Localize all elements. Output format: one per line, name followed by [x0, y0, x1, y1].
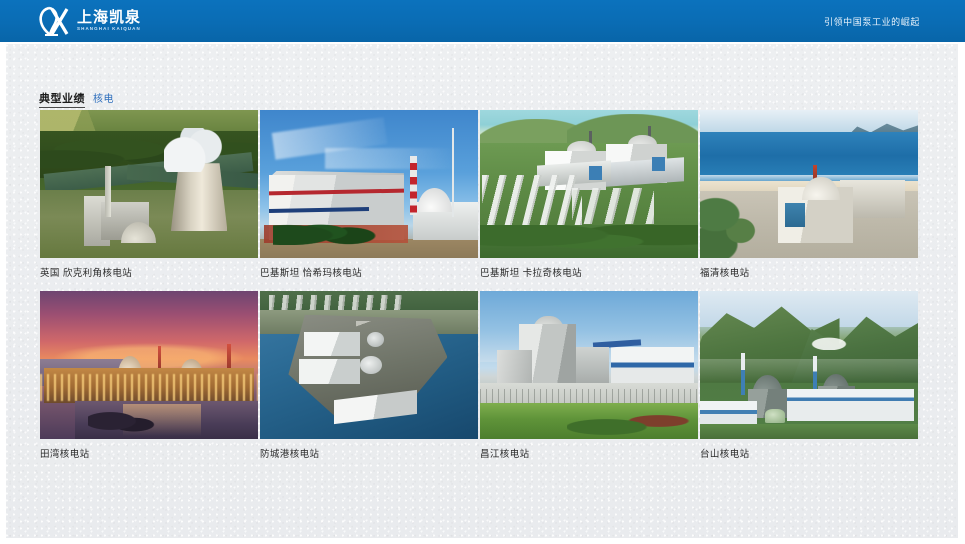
- hinkley-point-nuclear-plant-photo[interactable]: [40, 110, 258, 258]
- kaiquan-logo-mark-icon: [36, 5, 72, 37]
- brand-name-cn: 上海凯泉: [77, 10, 141, 25]
- gallery-item[interactable]: 台山核电站: [700, 291, 920, 460]
- chashma-nuclear-plant-photo[interactable]: [260, 110, 478, 258]
- gallery-item[interactable]: 昌江核电站: [480, 291, 700, 460]
- site-header: 上海凯泉 SHANGHAI KAIQUAN 引领中国泵工业的崛起: [0, 0, 965, 42]
- gallery-item[interactable]: 福清核电站: [700, 110, 920, 279]
- brand-name-en: SHANGHAI KAIQUAN: [77, 27, 141, 32]
- fangchenggang-nuclear-plant-photo[interactable]: [260, 291, 478, 439]
- fuqing-nuclear-plant-render[interactable]: [700, 110, 918, 258]
- gallery-item-caption: 台山核电站: [700, 446, 920, 460]
- gallery-item-caption: 田湾核电站: [40, 446, 260, 460]
- gallery-item-caption: 防城港核电站: [260, 446, 480, 460]
- section-subtitle[interactable]: 核电: [93, 90, 114, 105]
- header-tagline: 引领中国泵工业的崛起: [824, 0, 920, 42]
- gallery-item-caption: 福清核电站: [700, 265, 920, 279]
- gallery-item-caption: 昌江核电站: [480, 446, 700, 460]
- gallery-item-caption: 巴基斯坦 卡拉奇核电站: [480, 265, 700, 279]
- gallery-item-caption: 巴基斯坦 恰希玛核电站: [260, 265, 480, 279]
- section-header: 典型业绩 核电: [39, 90, 114, 108]
- gallery-item[interactable]: 巴基斯坦 恰希玛核电站: [260, 110, 480, 279]
- changjiang-nuclear-plant-photo[interactable]: [480, 291, 698, 439]
- gallery-item-caption: 英国 欣克利角核电站: [40, 265, 260, 279]
- tianwan-nuclear-plant-photo[interactable]: [40, 291, 258, 439]
- gallery-item[interactable]: 田湾核电站: [40, 291, 260, 460]
- taishan-nuclear-plant-photo[interactable]: [700, 291, 918, 439]
- gallery-item[interactable]: 防城港核电站: [260, 291, 480, 460]
- content-panel: 典型业绩 核电 英国 欣克利角核电站: [6, 44, 958, 538]
- gallery-item[interactable]: 英国 欣克利角核电站: [40, 110, 260, 279]
- project-gallery-grid: 英国 欣克利角核电站 巴基斯坦 恰希玛核电站: [40, 110, 926, 460]
- brand-logo-text: 上海凯泉 SHANGHAI KAIQUAN: [77, 10, 141, 32]
- gallery-item[interactable]: 巴基斯坦 卡拉奇核电站: [480, 110, 700, 279]
- karachi-nuclear-plant-render[interactable]: [480, 110, 698, 258]
- brand-logo[interactable]: 上海凯泉 SHANGHAI KAIQUAN: [36, 5, 141, 37]
- page-title: 典型业绩: [39, 90, 85, 108]
